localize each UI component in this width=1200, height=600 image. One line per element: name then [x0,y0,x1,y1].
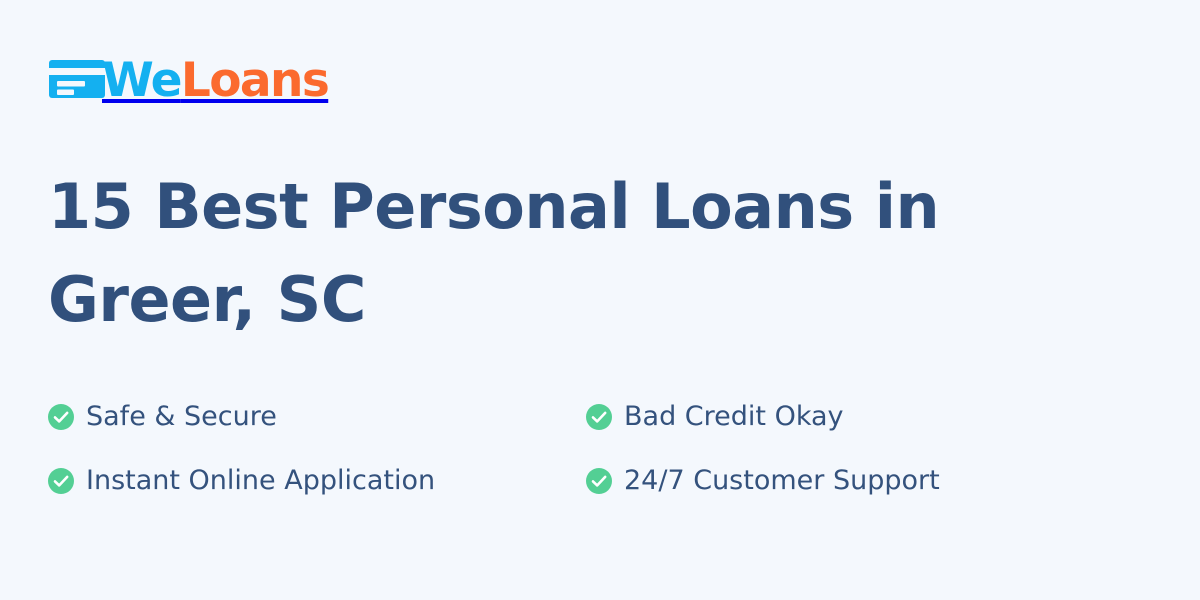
feature-list: Safe & Secure Bad Credit Okay Instant On… [48,385,1108,513]
page-title: 15 Best Personal Loans in Greer, SC [48,160,1008,346]
check-circle-icon [586,468,624,494]
brand-logo[interactable]: WeLoans [48,53,328,105]
feature-label: Safe & Secure [86,402,277,432]
brand-wordmark-loans: Loans [181,53,328,108]
brand-wordmark: WeLoans [102,57,328,104]
credit-card-icon [48,57,106,101]
feature-item-instant-online-application: Instant Online Application [48,463,586,499]
feature-item-bad-credit-okay: Bad Credit Okay [586,399,1108,435]
check-circle-icon [48,404,86,430]
feature-label: 24/7 Customer Support [624,466,940,496]
feature-item-customer-support: 24/7 Customer Support [586,463,1108,499]
check-circle-icon [48,468,86,494]
feature-label: Instant Online Application [86,466,435,496]
brand-wordmark-we: We [102,53,181,108]
feature-item-safe-secure: Safe & Secure [48,399,586,435]
check-circle-icon [586,404,624,430]
landing-page: WeLoans 15 Best Personal Loans in Greer,… [0,0,1200,600]
feature-label: Bad Credit Okay [624,402,844,432]
